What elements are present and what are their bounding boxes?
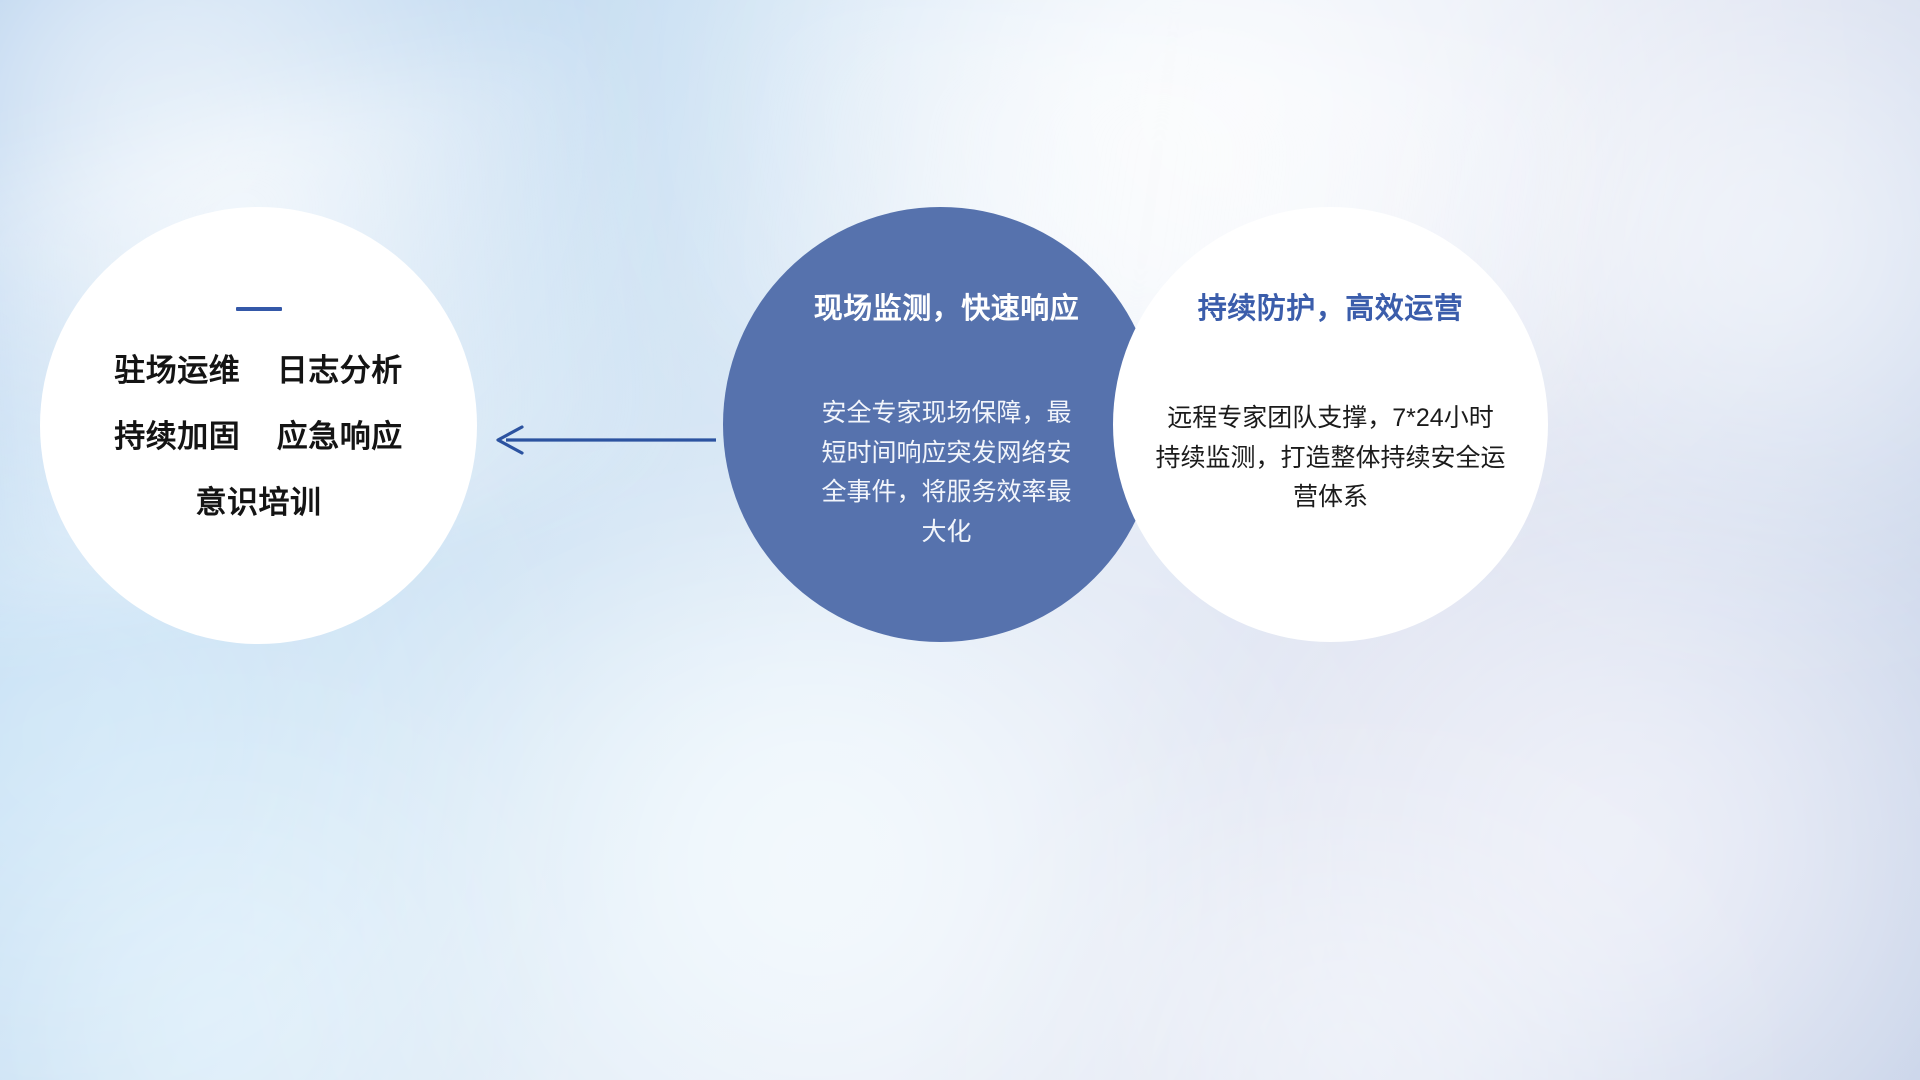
node-continuous-title: 持续防护，高效运营 <box>1127 285 1534 327</box>
node-onsite-content: 现场监测，快速响应 安全专家现场保障，最短时间响应突发网络安全事件，将服务效率最… <box>745 285 1148 552</box>
diagram-stage: 现场监测，快速响应 安全专家现场保障，最短时间响应突发网络安全事件，将服务效率最… <box>0 0 1920 1080</box>
node-onsite-title: 现场监测，快速响应 <box>745 285 1148 327</box>
node-outcome-capabilities[interactable]: 驻场运维 日志分析 持续加固 应急响应 意识培训 <box>40 207 477 644</box>
left-pointing-arrow-icon <box>498 427 716 453</box>
node-onsite-body: 安全专家现场保障，最短时间响应突发网络安全事件，将服务效率最大化 <box>811 394 1083 552</box>
node-onsite-monitoring[interactable]: 现场监测，快速响应 安全专家现场保障，最短时间响应突发网络安全事件，将服务效率最… <box>723 207 1158 642</box>
node-outcome-line-2: 持续加固 应急响应 <box>40 421 477 452</box>
node-outcome-content: 驻场运维 日志分析 持续加固 应急响应 意识培训 <box>40 307 477 518</box>
divider-dash <box>236 307 282 311</box>
node-outcome-line-3: 意识培训 <box>40 487 477 518</box>
node-outcome-line-1: 驻场运维 日志分析 <box>40 355 477 386</box>
node-continuous-content: 持续防护，高效运营 远程专家团队支撑，7*24小时持续监测，打造整体持续安全运营… <box>1127 285 1534 518</box>
node-continuous-operations[interactable]: 持续防护，高效运营 远程专家团队支撑，7*24小时持续监测，打造整体持续安全运营… <box>1113 207 1548 642</box>
node-continuous-body: 远程专家团队支撑，7*24小时持续监测，打造整体持续安全运营体系 <box>1156 399 1506 518</box>
flow-arrow-left <box>480 405 720 475</box>
